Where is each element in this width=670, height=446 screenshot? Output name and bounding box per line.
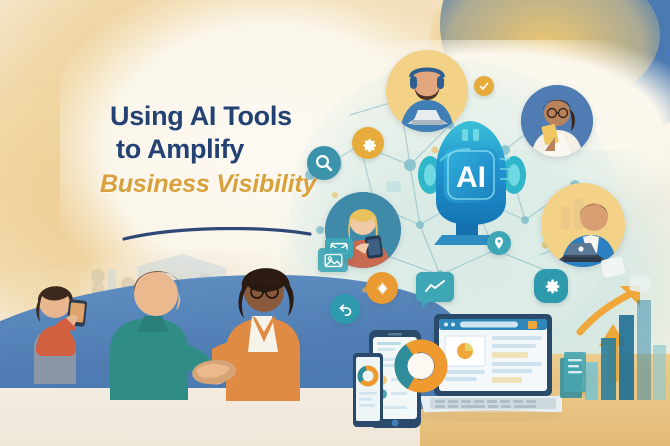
- reply-arrow-icon: [330, 294, 360, 324]
- title-block: Using AI Tools to Amplify Business Visib…: [100, 100, 320, 202]
- chart-bubble-icon: [416, 272, 454, 302]
- bubble-tail: [422, 300, 430, 308]
- share-icon: [366, 272, 398, 304]
- ai-robot-head: AI: [418, 113, 526, 245]
- donut-chart: [393, 338, 449, 394]
- title-underline: [122, 227, 312, 241]
- checkmark-icon: [474, 76, 494, 96]
- floating-cards: [596, 250, 666, 310]
- image-icon: [318, 248, 348, 272]
- clasped-hands: [186, 352, 242, 392]
- search-icon: [307, 146, 341, 180]
- title-line-1: Using AI Tools: [100, 100, 320, 133]
- hero-banner: Using AI Tools to Amplify Business Visib…: [0, 0, 670, 446]
- location-pin-icon: [487, 231, 511, 255]
- avatar-woman-glasses-tablet: [521, 85, 593, 157]
- woman-taking-photo-with-phone: [12, 256, 98, 386]
- document-stack: [556, 352, 596, 408]
- title-subtitle: Business Visibility: [100, 166, 320, 202]
- tablet-donut-chart: [352, 352, 386, 432]
- ai-label: AI: [456, 161, 486, 194]
- title-line-2: to Amplify: [100, 133, 320, 166]
- gear-icon-gold: [352, 127, 384, 159]
- gear-icon-teal: [534, 269, 568, 303]
